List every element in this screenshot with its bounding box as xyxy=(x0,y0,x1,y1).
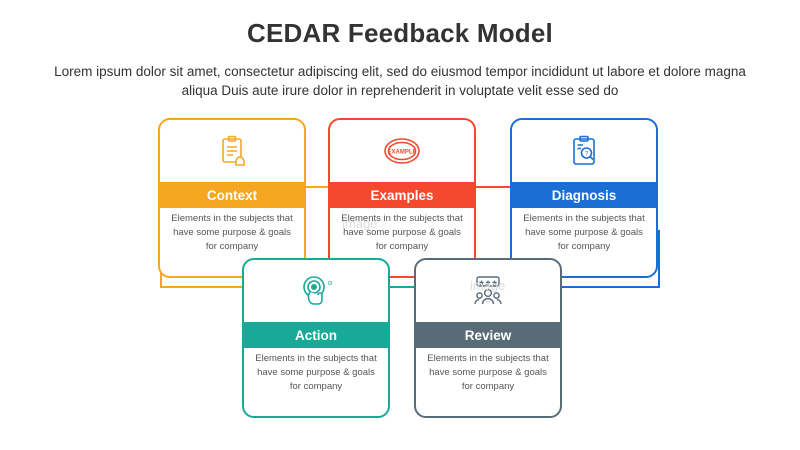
card-diagnosis-label: Diagnosis xyxy=(512,182,656,208)
target-hand-icon: α xyxy=(244,260,388,322)
svg-text:α: α xyxy=(328,280,332,287)
svg-text:?: ? xyxy=(585,150,589,157)
rating-group-icon xyxy=(416,260,560,322)
card-examples-description: Elements in the subjects that have some … xyxy=(330,212,474,254)
card-action-label: Action xyxy=(244,322,388,348)
clipboard-search-icon: ? xyxy=(512,120,656,182)
connector-diagnosis-right-edge xyxy=(658,230,660,288)
card-context-label: Context xyxy=(160,182,304,208)
card-diagnosis-description: Elements in the subjects that have some … xyxy=(512,212,656,254)
example-stamp-icon: EXAMPLE xyxy=(330,120,474,182)
card-action-description: Elements in the subjects that have some … xyxy=(244,352,388,394)
connector-context-action xyxy=(160,286,252,288)
card-review[interactable]: Review Elements in the subjects that hav… xyxy=(414,258,562,418)
svg-text:EXAMPLE: EXAMPLE xyxy=(387,150,416,156)
card-action[interactable]: α Action Elements in the subjects that h… xyxy=(242,258,390,418)
card-context-description: Elements in the subjects that have some … xyxy=(160,212,304,254)
card-diagnosis[interactable]: ? Diagnosis Elements in the subjects tha… xyxy=(510,118,658,278)
page-subtitle: Lorem ipsum dolor sit amet, consectetur … xyxy=(40,62,760,100)
card-context[interactable]: Context Elements in the subjects that ha… xyxy=(158,118,306,278)
card-examples-label: Examples xyxy=(330,182,474,208)
page-title: CEDAR Feedback Model xyxy=(0,18,800,49)
card-review-description: Elements in the subjects that have some … xyxy=(416,352,560,394)
card-review-label: Review xyxy=(416,322,560,348)
card-examples[interactable]: EXAMPLE Examples Elements in the subject… xyxy=(328,118,476,278)
clipboard-hand-icon xyxy=(160,120,304,182)
